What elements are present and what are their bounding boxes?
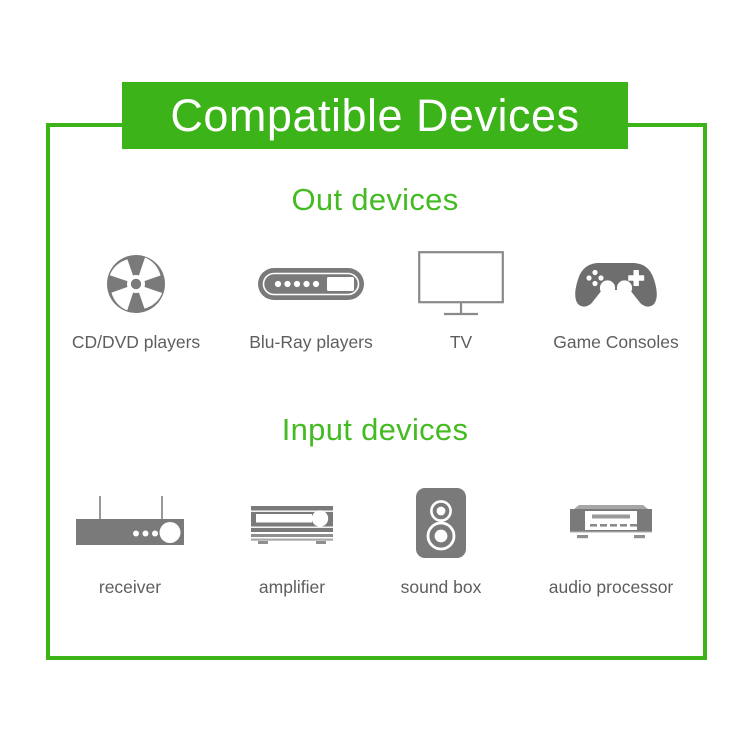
device-label: TV — [450, 332, 472, 353]
device-item-game-consoles[interactable]: Game Consoles — [536, 248, 696, 353]
device-item-cd-dvd-players[interactable]: CD/DVD players — [56, 248, 216, 353]
device-item-tv[interactable]: TV — [406, 248, 516, 353]
cd-disc-icon — [105, 248, 167, 320]
section-heading-out: Out devices — [0, 182, 750, 218]
device-label: Blu-Ray players — [249, 332, 373, 353]
section-heading-input: Input devices — [0, 412, 750, 448]
device-item-amplifier[interactable]: amplifier — [228, 487, 356, 598]
device-label: CD/DVD players — [72, 332, 200, 353]
device-item-audio-processor[interactable]: audio processor — [526, 487, 696, 598]
audio-processor-icon — [565, 487, 657, 559]
page-title: Compatible Devices — [170, 93, 579, 138]
device-item-blu-ray-players[interactable]: Blu-Ray players — [236, 248, 386, 353]
amplifier-icon — [248, 487, 336, 559]
game-controller-icon — [573, 248, 659, 320]
title-banner: Compatible Devices — [122, 82, 628, 149]
device-label: amplifier — [259, 577, 325, 598]
blu-ray-player-icon — [257, 248, 365, 320]
device-label: receiver — [99, 577, 161, 598]
input-devices-row: receiver amplifier — [56, 487, 696, 598]
compatible-devices-infographic: Compatible Devices Out devices — [0, 0, 750, 750]
device-label: audio processor — [549, 577, 674, 598]
tv-icon — [418, 248, 504, 320]
device-label: sound box — [401, 577, 482, 598]
device-label: Game Consoles — [553, 332, 678, 353]
speaker-icon — [415, 487, 467, 559]
device-item-sound-box[interactable]: sound box — [380, 487, 502, 598]
device-item-receiver[interactable]: receiver — [56, 487, 204, 598]
out-devices-row: CD/DVD players Blu-Ray pla — [56, 248, 696, 353]
receiver-icon — [72, 487, 188, 559]
